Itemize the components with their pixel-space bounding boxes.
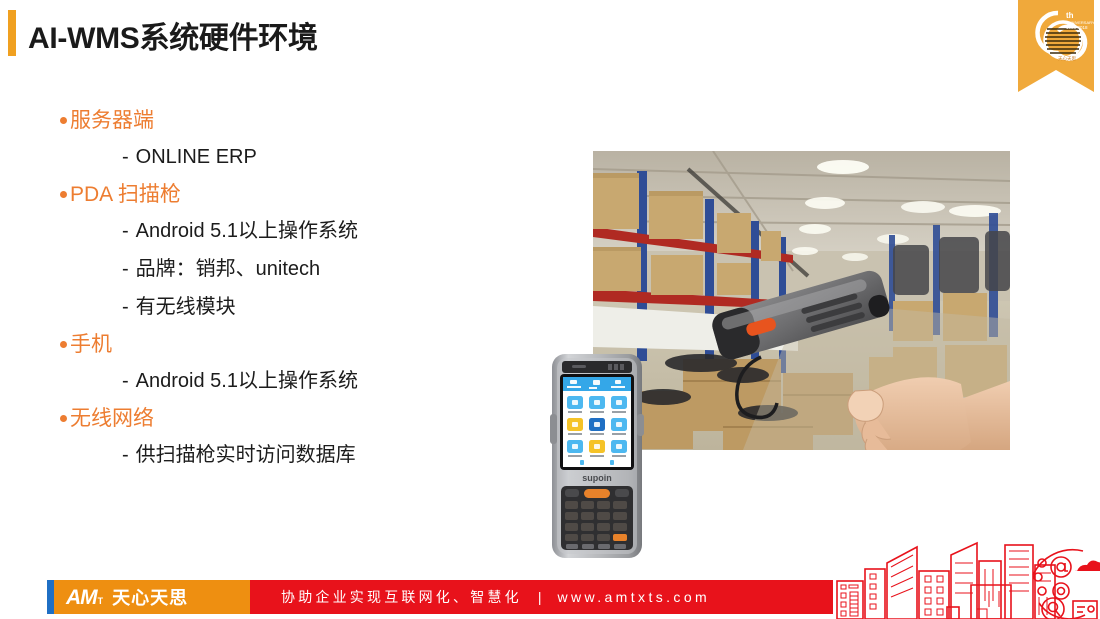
footer-slogan-block: 协助企业实现互联网化、智慧化 | www.amtxts.com [250, 580, 833, 614]
company-logo: AM T 天心天思 [66, 584, 188, 610]
pda-brand-label: supoin [582, 473, 612, 483]
bullet-dash-icon: - [122, 370, 129, 392]
bullet-level1-server: 服务器端 [60, 106, 540, 136]
anniversary-years: 1988-2018 [1066, 25, 1088, 30]
bullet-dot-icon [60, 415, 67, 422]
anniversary-sub: 天心天思 [1058, 55, 1076, 62]
bullet-level1-label: 手机 [70, 330, 112, 360]
bullet-level2-label: 有无线模块 [136, 296, 236, 318]
bullet-dash-icon: - [122, 296, 129, 318]
bullet-level2-label: Android 5.1以上操作系统 [136, 220, 358, 242]
bullet-level1-label: 服务器端 [70, 106, 154, 136]
bullet-level2-item: -Android 5.1以上操作系统 [122, 216, 540, 246]
bullet-level2-label: Android 5.1以上操作系统 [136, 370, 358, 392]
bullet-level2-label: 供扫描枪实时访问数据库 [136, 444, 356, 466]
anniversary-badge: th ANNIVERSARY 1988-2018 天心天思 [1018, 0, 1094, 92]
bullet-dash-icon: - [122, 220, 129, 242]
bullet-dash-icon: - [122, 146, 129, 168]
bullet-level2-label: 品牌：销邦、unitech [136, 258, 321, 280]
footer-url[interactable]: www.amtxts.com [557, 589, 710, 605]
bullet-level1-label: 无线网络 [70, 404, 154, 434]
bullet-dash-icon: - [122, 258, 129, 280]
bullet-level1-phone: 手机 [60, 330, 540, 360]
bullet-dot-icon [60, 191, 67, 198]
logo-am-text: AM [66, 586, 97, 610]
page-title: AI-WMS系统硬件环境 [28, 13, 318, 57]
footer-logo-block: AM T 天心天思 [54, 580, 250, 614]
bullet-level2-item: -Android 5.1以上操作系统 [122, 366, 540, 396]
pda-device: supoin [548, 352, 646, 560]
bullet-dash-icon: - [122, 444, 129, 466]
bullet-dot-icon [60, 341, 67, 348]
bullet-level2-item: -品牌：销邦、unitech [122, 254, 540, 284]
bullet-list: 服务器端 -ONLINE ERP PDA 扫描枪 -Android 5.1以上操… [60, 106, 540, 478]
bullet-dot-icon [60, 117, 67, 124]
warehouse-photo [593, 151, 1010, 450]
footer-bar: AM T 天心天思 协助企业实现互联网化、智慧化 | www.amtxts.co… [0, 575, 1100, 619]
logo-t-text: T [98, 596, 104, 606]
footer-slogan: 协助企业实现互联网化、智慧化 [281, 587, 522, 607]
bullet-level1-wireless: 无线网络 [60, 404, 540, 434]
logo-chinese-name: 天心天思 [112, 584, 188, 610]
slide-root: AI-WMS系统硬件环境 th ANNIVERSARY 1988-2018 天心… [0, 0, 1100, 619]
city-skyline-graphic [825, 541, 1100, 619]
bullet-level2-item: -ONLINE ERP [122, 142, 540, 172]
bullet-level2-item: -供扫描枪实时访问数据库 [122, 440, 540, 470]
footer-separator: | [538, 589, 542, 605]
title-accent-bar [8, 10, 16, 56]
bullet-level1-pda: PDA 扫描枪 [60, 180, 540, 210]
bullet-level2-label: ONLINE ERP [136, 146, 257, 168]
bullet-level1-label: PDA 扫描枪 [70, 180, 181, 210]
footer-blue-accent [47, 580, 54, 614]
anniversary-suffix: th [1066, 11, 1074, 20]
bullet-level2-item: -有无线模块 [122, 292, 540, 322]
